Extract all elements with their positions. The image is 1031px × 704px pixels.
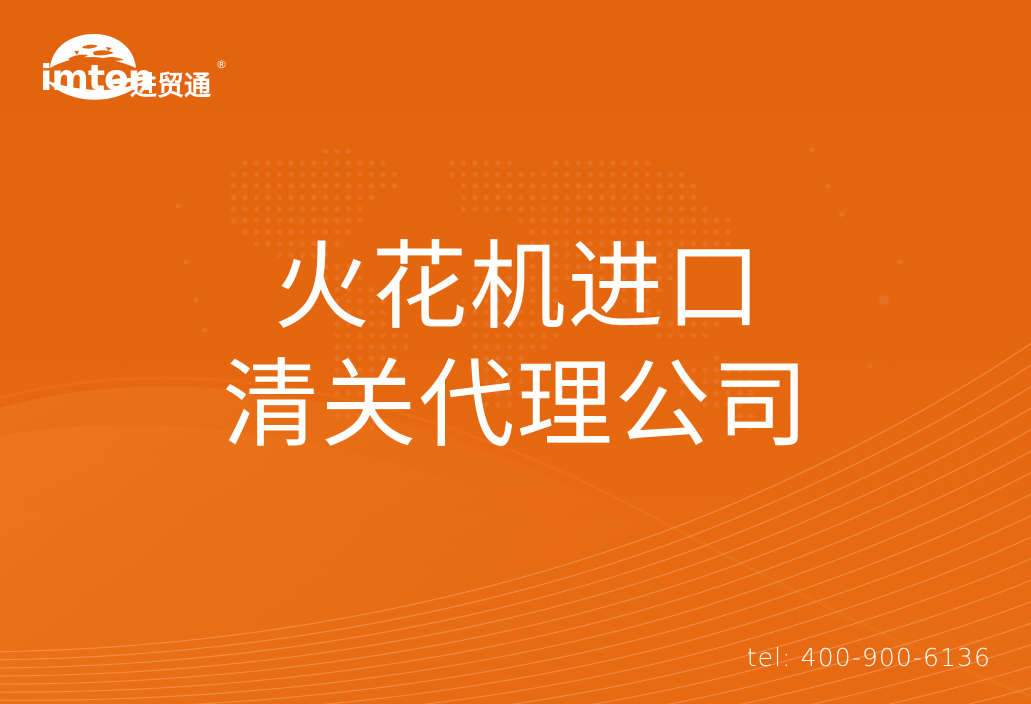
- promotional-banner: imton 进贸通 ® 火花机进口 清关代理公司 tel: 400-900-61…: [0, 0, 1031, 704]
- headline-block: 火花机进口 清关代理公司: [0, 228, 1031, 464]
- contact-telephone[interactable]: tel: 400-900-6136: [747, 643, 991, 672]
- logo-chinese-name: 进贸通: [130, 64, 211, 103]
- brand-logo[interactable]: imton 进贸通 ®: [38, 30, 218, 102]
- headline-line-2: 清关代理公司: [0, 346, 1031, 464]
- headline-line-1: 火花机进口: [0, 228, 1031, 346]
- logo-trademark-symbol: ®: [216, 58, 227, 71]
